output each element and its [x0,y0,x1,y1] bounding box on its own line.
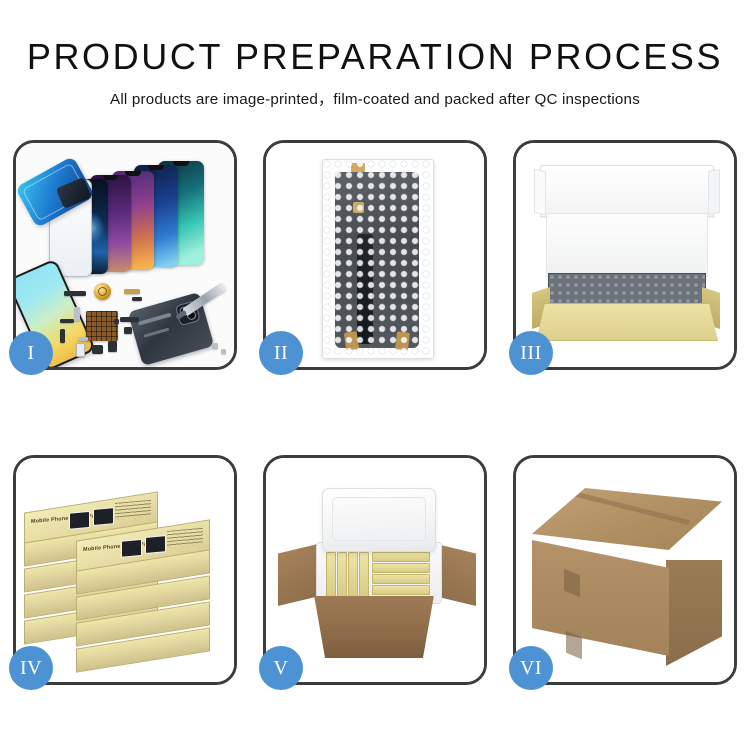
process-step-grid: I II [13,140,737,685]
step-panel-2: II [263,140,487,370]
step-6-illustration [516,458,734,682]
box-label-text: Mobile Phone Spare Parts [83,541,154,553]
step-5-illustration [266,458,484,682]
step-panel-4: Mobile Phone Spare Parts Mobile Phone Sp… [13,455,237,685]
chip-grid-icon [86,311,118,341]
styrofoam-lid-icon [322,488,436,552]
step-badge: I [9,331,53,375]
step-badge: VI [509,646,553,690]
step-badge: IV [9,646,53,690]
stacked-boxes-icon: Mobile Phone Spare Parts Mobile Phone Sp… [24,476,230,672]
step-panel-6: VI [513,455,737,685]
step-3-illustration [516,143,734,367]
page-header: PRODUCT PREPARATION PROCESS All products… [0,0,750,109]
copper-coil-icon [94,283,111,300]
step-panel-1: I [13,140,237,370]
step-badge: III [509,331,553,375]
page-title: PRODUCT PREPARATION PROCESS [0,38,750,76]
step-panel-5: V [263,455,487,685]
page-subtitle: All products are image-printed，film-coat… [0,87,750,109]
step-4-illustration: Mobile Phone Spare Parts Mobile Phone Sp… [16,458,234,682]
step-2-illustration [266,143,484,367]
step-badge: V [259,646,303,690]
bubble-wrap-contents-icon [548,273,706,307]
yellow-boxes-inside-icon [326,552,430,596]
sealed-carton-icon [532,488,722,656]
open-flat-box-icon [532,165,720,345]
step-badge: II [259,331,303,375]
box-label-text: Mobile Phone Spare Parts [31,513,102,525]
bubble-wrap-bag-icon [322,159,434,359]
step-panel-3: III [513,140,737,370]
step-1-illustration [16,143,234,367]
open-carton-icon [278,480,476,664]
